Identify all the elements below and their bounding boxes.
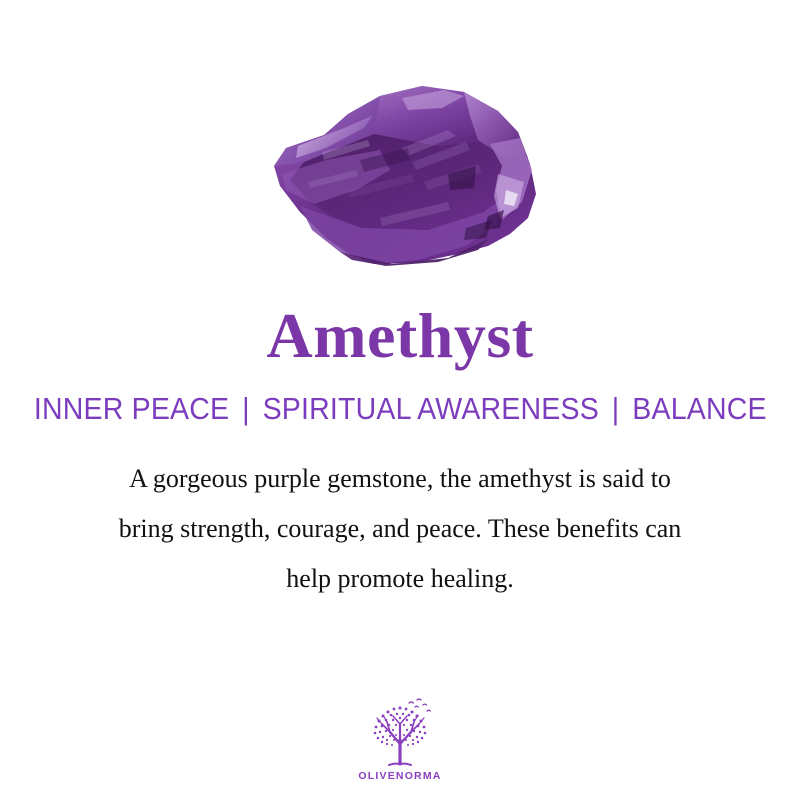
keyword-spiritual-awareness: SPIRITUAL AWARENESS	[262, 391, 598, 427]
hero-image-area	[0, 0, 800, 300]
description-line-2: bring strength, courage, and peace. Thes…	[40, 504, 760, 554]
description-line-1: A gorgeous purple gemstone, the amethyst…	[40, 454, 760, 504]
keyword-separator-1: |	[229, 391, 262, 427]
amethyst-info-card: Amethyst INNER PEACE | SPIRITUAL AWARENE…	[0, 0, 800, 800]
tree-of-life-icon	[361, 694, 439, 768]
keyword-inner-peace: INNER PEACE	[34, 391, 229, 427]
keyword-separator-2: |	[599, 391, 632, 427]
amethyst-stone-image	[252, 78, 562, 290]
description-text: A gorgeous purple gemstone, the amethyst…	[40, 454, 760, 604]
amethyst-crystal-icon	[252, 78, 562, 290]
description-line-3: help promote healing.	[40, 554, 760, 604]
keyword-balance: BALANCE	[632, 391, 766, 427]
brand-logo: OLIVENORMA	[0, 694, 800, 782]
birds-icon	[409, 699, 430, 711]
brand-wordmark: OLIVENORMA	[358, 770, 441, 782]
keyword-list: INNER PEACE | SPIRITUAL AWARENESS | BALA…	[34, 390, 767, 428]
page-title: Amethyst	[266, 300, 533, 372]
